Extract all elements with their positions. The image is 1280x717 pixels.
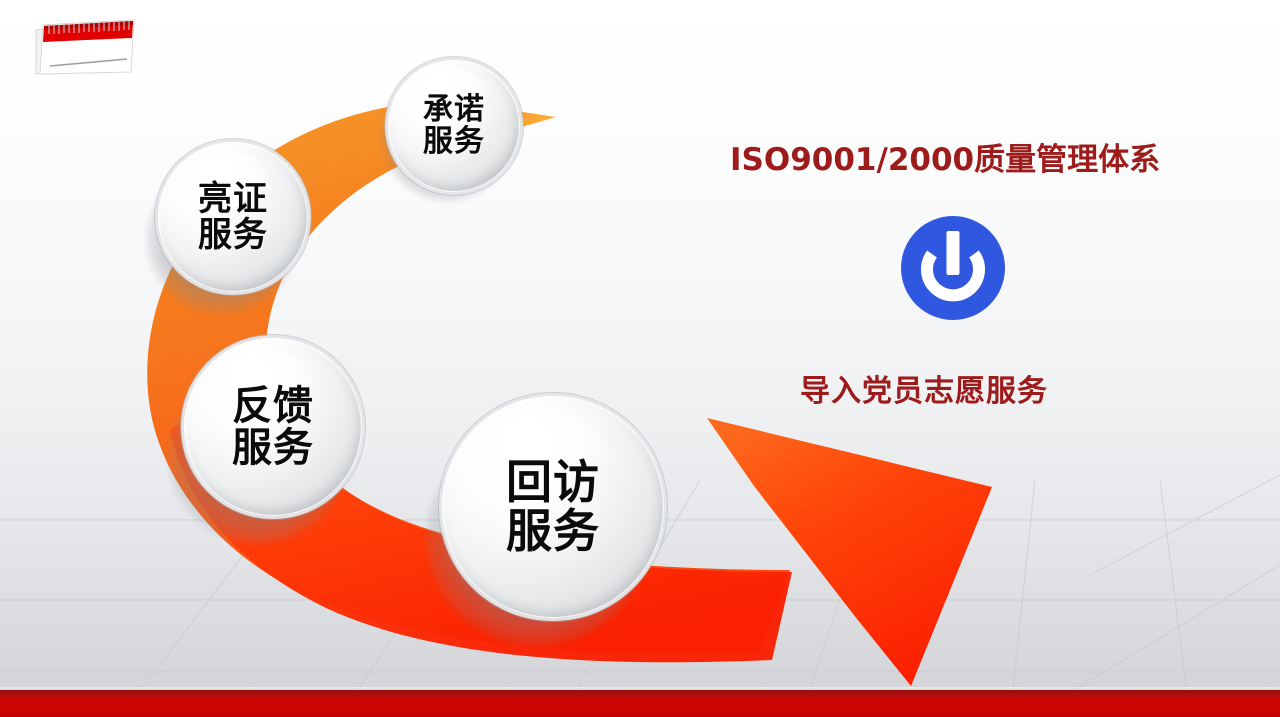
slide-canvas: 承诺 服务 亮证 服务 反馈 服务 回访 服务 ISO9001/2000质量管理… bbox=[0, 0, 1280, 717]
bottom-bar bbox=[0, 690, 1280, 717]
node-label-liangzheng: 亮证 服务 bbox=[198, 181, 268, 253]
node-huifang[interactable]: 回访 服务 bbox=[442, 396, 664, 618]
node-label-huifang: 回访 服务 bbox=[506, 458, 600, 556]
page-title: ISO9001/2000质量管理体系 bbox=[730, 134, 1250, 179]
power-icon[interactable] bbox=[899, 214, 1007, 322]
desk-calendar-icon bbox=[30, 16, 138, 78]
process-ribbon-arrow bbox=[0, 0, 1280, 717]
node-label-fankui: 反馈 服务 bbox=[232, 385, 314, 470]
node-label-chengnuo: 承诺 服务 bbox=[423, 94, 485, 158]
node-liangzheng[interactable]: 亮证 服务 bbox=[158, 142, 308, 292]
node-fankui[interactable]: 反馈 服务 bbox=[184, 338, 362, 516]
node-chengnuo[interactable]: 承诺 服务 bbox=[388, 60, 520, 192]
subtitle: 导入党员志愿服务 bbox=[800, 366, 1220, 410]
